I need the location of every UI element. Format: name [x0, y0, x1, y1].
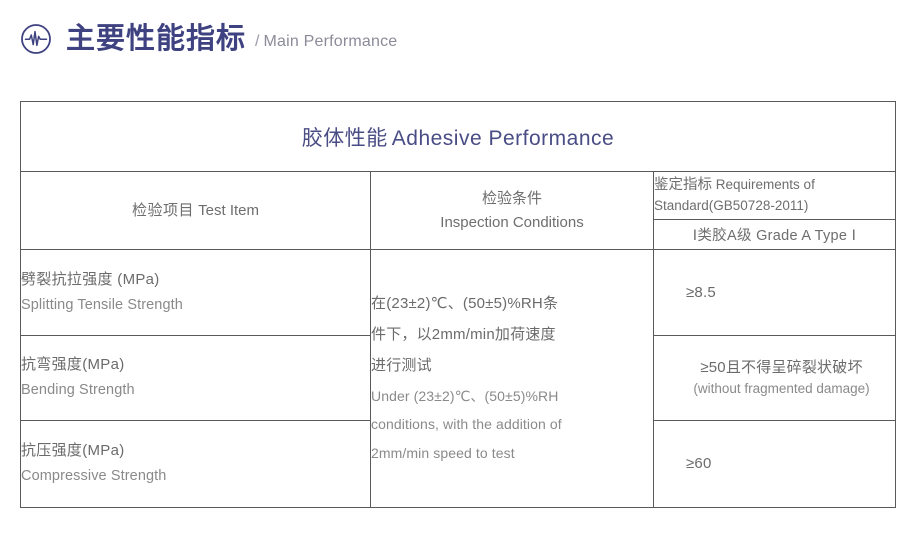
page-header: 主要性能指标 / Main Performance: [20, 14, 397, 64]
condition-cn-line-0: 在(23±2)℃、(50±5)%RH条: [371, 289, 653, 320]
table-caption-en: Adhesive Performance: [392, 127, 614, 150]
item-cn-2: 抗压强度(MPa): [21, 438, 370, 464]
header-test-item: 检验项目 Test Item: [21, 172, 371, 250]
table-row: 劈裂抗拉强度 (MPa) Splitting Tensile Strength …: [21, 250, 896, 336]
requirement-main-0: ≥8.5: [686, 281, 895, 304]
requirement-cell-0: ≥8.5: [654, 250, 896, 336]
condition-en-line-0: Under (23±2)℃、(50±5)%RH: [371, 382, 653, 411]
table-header-row: 检验项目 Test Item 检验条件 Inspection Condition…: [21, 172, 896, 220]
header-requirements-grade: Ⅰ类胶A级 Grade A Type Ⅰ: [654, 220, 896, 250]
requirement-cell-2: ≥60: [654, 421, 896, 508]
table-caption-cell: 胶体性能Adhesive Performance: [21, 102, 896, 172]
header-conditions-cn: 检验条件: [371, 187, 653, 210]
header-test-item-en: Test Item: [198, 202, 259, 219]
page-subtitle: Main Performance: [263, 34, 397, 50]
title-separator: /: [255, 34, 259, 50]
condition-en-line-2: 2mm/min speed to test: [371, 439, 653, 468]
condition-cn-line-2: 进行测试: [371, 351, 653, 382]
requirement-cell-1: ≥50且不得呈碎裂状破坏 (without fragmented damage): [654, 336, 896, 421]
page-title: 主要性能指标: [66, 25, 246, 54]
header-requirements: 鉴定指标 Requirements of Standard(GB50728-20…: [654, 172, 896, 220]
item-cell-2: 抗压强度(MPa) Compressive Strength: [21, 421, 371, 508]
item-en-1: Bending Strength: [21, 378, 370, 403]
inspection-conditions-cell: 在(23±2)℃、(50±5)%RH条 件下，以2mm/min加荷速度 进行测试…: [371, 250, 654, 508]
item-en-0: Splitting Tensile Strength: [21, 293, 370, 318]
table-caption-row: 胶体性能Adhesive Performance: [21, 102, 896, 172]
item-cn-1: 抗弯强度(MPa): [21, 352, 370, 378]
adhesive-performance-table: 胶体性能Adhesive Performance 检验项目 Test Item …: [20, 101, 896, 508]
header-inspection-conditions: 检验条件 Inspection Conditions: [371, 172, 654, 250]
condition-cn-line-1: 件下，以2mm/min加荷速度: [371, 320, 653, 351]
item-cell-1: 抗弯强度(MPa) Bending Strength: [21, 336, 371, 421]
requirement-main-1: ≥50且不得呈碎裂状破坏: [668, 356, 895, 379]
header-test-item-cn: 检验项目: [132, 202, 194, 219]
item-cell-0: 劈裂抗拉强度 (MPa) Splitting Tensile Strength: [21, 250, 371, 336]
item-en-2: Compressive Strength: [21, 464, 370, 489]
requirement-main-2: ≥60: [686, 452, 895, 475]
item-cn-0: 劈裂抗拉强度 (MPa): [21, 267, 370, 293]
requirement-note-1: (without fragmented damage): [668, 379, 895, 400]
condition-en-line-1: conditions, with the addition of: [371, 410, 653, 439]
header-conditions-en: Inspection Conditions: [371, 211, 653, 234]
header-requirements-cn: 鉴定指标: [654, 177, 712, 193]
table-caption-cn: 胶体性能: [302, 127, 388, 150]
pulse-circle-icon: [20, 23, 52, 55]
